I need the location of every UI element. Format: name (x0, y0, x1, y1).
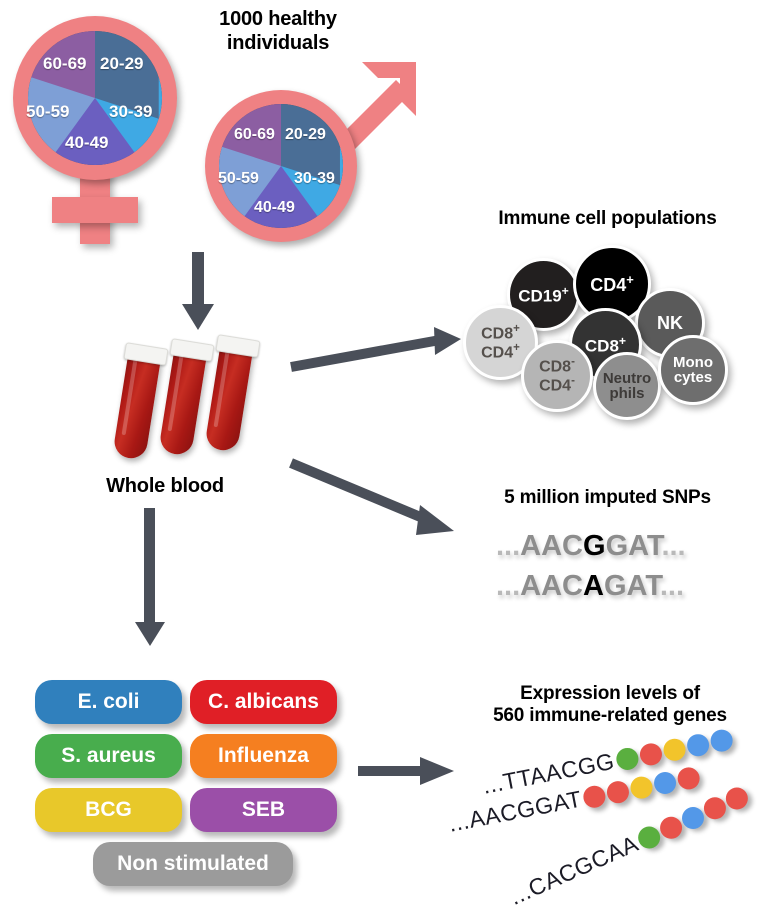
expression-bead (722, 784, 751, 813)
cohort-header-line1: 1000 healthy (178, 8, 378, 32)
snp-right: GAT (604, 570, 660, 602)
cell-label-cd4: CD4 (590, 275, 626, 295)
immune-cell-cd8neg-cd4neg: CD8- CD4- (521, 340, 593, 412)
blood-tube (112, 349, 161, 461)
stimulus-c-albicans[interactable]: C. albicans (190, 680, 337, 724)
cell-label-neutro-2: phils (609, 386, 644, 401)
expression-strands: ...TTAACGG ...AACGGAT ...CACGCAA (455, 745, 771, 910)
stimulus-bcg[interactable]: BCG (35, 788, 182, 832)
arrow-stimuli-to-expression (358, 752, 458, 792)
immune-cell-cluster: CD19+ CD4+ NK CD8+ CD8+ CD4+ CD8- CD4- N… (455, 240, 765, 430)
expression-header-line2: 560 immune-related genes (460, 705, 760, 727)
snp-right: GAT (606, 530, 662, 562)
cell-label-mono-2: cytes (674, 370, 712, 385)
stimulus-s-aureus[interactable]: S. aureus (35, 734, 182, 778)
cell-sup: - (571, 375, 575, 387)
cell-label-mono-1: Mono (673, 355, 713, 370)
expression-header-line1: Expression levels of (460, 683, 760, 705)
cohort-header: 1000 healthy individuals (178, 8, 378, 55)
stimulus-e-coli[interactable]: E. coli (35, 680, 182, 724)
pie-label-40-49: 40-49 (254, 199, 295, 217)
blood-tube-body (112, 349, 161, 461)
expression-bead (628, 774, 654, 800)
expression-bead (605, 779, 631, 805)
female-symbol-stem-cross (52, 197, 138, 223)
snp-allele: A (583, 570, 604, 602)
pie-label-20-29: 20-29 (100, 54, 143, 74)
cell-label-cd4: CD4 (539, 377, 571, 394)
cell-label-cd8: CD8 (539, 359, 571, 376)
arrow-blood-to-snps (288, 455, 463, 545)
cell-label-neutro-1: Neutro (603, 371, 651, 386)
arrow-cohort-to-blood (178, 252, 218, 332)
expression-bead (708, 727, 734, 753)
cell-sup: - (571, 356, 575, 368)
cell-sup: + (626, 272, 634, 287)
stimulus-influenza[interactable]: Influenza (190, 734, 337, 778)
arrow-blood-to-stimuli (130, 508, 170, 648)
figure-canvas: 1000 healthy individuals 20-29 30-39 40-… (0, 0, 771, 922)
strand-sequence: ...CACGCAA (506, 830, 643, 911)
pie-label-60-69: 60-69 (43, 54, 86, 74)
pie-label-40-49: 40-49 (65, 133, 108, 153)
snp-prefix: ... (496, 570, 520, 602)
expression-bead (614, 746, 640, 772)
cell-label-nk: NK (657, 314, 683, 332)
expression-bead (661, 736, 687, 762)
expression-bead (676, 765, 702, 791)
immune-cell-monocytes: Mono cytes (658, 335, 728, 405)
expression-header: Expression levels of 560 immune-related … (460, 683, 760, 728)
cell-sup: + (562, 284, 569, 298)
cell-label-cd4: CD4 (481, 344, 513, 361)
expression-bead (638, 741, 664, 767)
cell-label-cd8: CD8 (585, 336, 619, 355)
expression-bead (581, 783, 607, 809)
stimuli-panel: E. coli C. albicans S. aureus Influenza … (35, 680, 345, 895)
cohort-header-line2: individuals (178, 32, 378, 56)
cell-sup: + (513, 342, 520, 354)
stimulus-seb[interactable]: SEB (190, 788, 337, 832)
snp-suffix: ... (660, 570, 684, 602)
cell-sup: + (513, 323, 520, 335)
arrow-blood-to-immune-cells (288, 325, 463, 375)
snp-left: AAC (520, 530, 583, 562)
pie-label-30-39: 30-39 (294, 170, 335, 188)
pie-label-60-69: 60-69 (234, 126, 275, 144)
cell-label-cd19: CD19 (518, 286, 561, 305)
snp-sequence-row-2: ...AACAGAT... (496, 570, 684, 603)
expression-bead (652, 770, 678, 796)
whole-blood-label: Whole blood (70, 475, 260, 499)
pie-label-30-39: 30-39 (109, 102, 152, 122)
whole-blood-tubes (100, 338, 280, 468)
snp-suffix: ... (661, 530, 685, 562)
cell-label-cd8: CD8 (481, 325, 513, 342)
snps-header: 5 million imputed SNPs (455, 487, 760, 509)
stimulus-non-stimulated[interactable]: Non stimulated (93, 842, 293, 886)
snp-left: AAC (520, 570, 583, 602)
pie-label-50-59: 50-59 (26, 102, 69, 122)
pie-label-50-59: 50-59 (218, 170, 259, 188)
snp-prefix: ... (496, 530, 520, 562)
immune-cell-neutrophils: Neutro phils (593, 352, 661, 420)
snp-allele: G (583, 530, 606, 562)
pie-label-20-29: 20-29 (285, 126, 326, 144)
male-gender-symbol: 20-29 30-39 40-49 50-59 60-69 (205, 58, 420, 248)
snp-sequence-row-1: ...AACGGAT... (496, 530, 686, 563)
immune-cells-header: Immune cell populations (455, 208, 760, 230)
cell-sup: + (619, 334, 626, 348)
female-gender-symbol: 20-29 30-39 40-49 50-59 60-69 (8, 16, 188, 246)
expression-bead (685, 732, 711, 758)
